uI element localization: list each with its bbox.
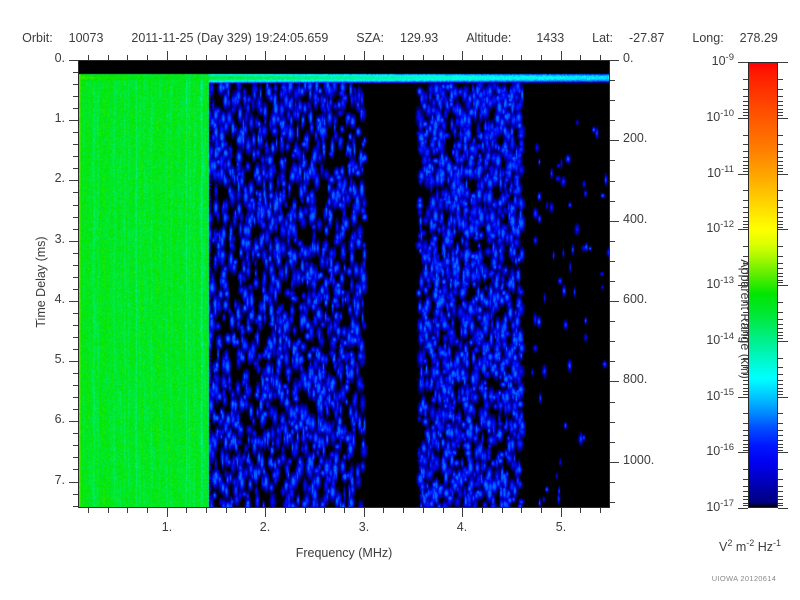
x-axis-minor-tick-top bbox=[108, 55, 109, 60]
colorbar-minor-tick-right bbox=[778, 112, 783, 113]
x-axis-minor-tick-top bbox=[226, 55, 227, 60]
colorbar-minor-tick-left bbox=[743, 391, 748, 392]
colorbar-minor-tick-left bbox=[743, 332, 748, 333]
x-axis-minor-tick-top bbox=[324, 55, 325, 60]
colorbar-minor-tick-left bbox=[743, 319, 748, 320]
y-axis-right-minor-tick bbox=[610, 261, 615, 262]
x-axis-minor-tick-top bbox=[206, 55, 207, 60]
colorbar-tick-label: 10-9 bbox=[674, 52, 734, 68]
colorbar-minor-tick-left bbox=[743, 338, 748, 339]
colorbar-major-tick-left bbox=[738, 397, 748, 398]
colorbar-minor-tick-right bbox=[778, 374, 783, 375]
y-axis-left-minor-tick bbox=[73, 349, 78, 350]
colorbar-tick-exponent: -16 bbox=[720, 442, 734, 453]
colorbar-minor-tick-left bbox=[743, 224, 748, 225]
y-axis-left-minor-tick bbox=[73, 108, 78, 109]
colorbar-major-tick-left bbox=[738, 174, 748, 175]
x-axis-minor-tick bbox=[403, 508, 404, 513]
y-axis-right-minor-tick bbox=[610, 442, 615, 443]
unit-volts-exponent: 2 bbox=[727, 538, 732, 548]
y-axis-left-major-tick bbox=[69, 60, 78, 61]
y-axis-left-minor-tick bbox=[73, 265, 78, 266]
colorbar-minor-tick-left bbox=[743, 246, 748, 247]
x-axis-minor-tick bbox=[206, 508, 207, 513]
colorbar-minor-tick-left bbox=[743, 221, 748, 222]
colorbar-tick-exponent: -9 bbox=[726, 52, 734, 63]
x-axis-minor-tick bbox=[186, 508, 187, 513]
colorbar-minor-tick-right bbox=[778, 165, 783, 166]
colorbar-minor-tick-right bbox=[778, 280, 783, 281]
colorbar-major-tick-right bbox=[778, 62, 788, 63]
colorbar-tick-mantissa: 10 bbox=[706, 500, 720, 514]
y-axis-left-minor-tick bbox=[73, 217, 78, 218]
y-axis-left-minor-tick bbox=[73, 337, 78, 338]
x-axis-minor-tick-top bbox=[443, 55, 444, 60]
y-axis-left-minor-tick bbox=[73, 132, 78, 133]
y-axis-right-minor-tick bbox=[610, 402, 615, 403]
y-axis-right-minor-tick bbox=[610, 361, 615, 362]
y-axis-left-minor-tick bbox=[73, 144, 78, 145]
colorbar-minor-tick-left bbox=[743, 324, 748, 325]
y-axis-right-minor-tick bbox=[610, 241, 615, 242]
header-metadata-line: Orbit: 10073 2011-11-25 (Day 329) 19:24:… bbox=[0, 31, 800, 45]
colorbar-minor-tick-left bbox=[743, 486, 748, 487]
colorbar-minor-tick-right bbox=[778, 144, 783, 145]
institution-credit: UIOWA 20120614 bbox=[690, 574, 798, 583]
colorbar-minor-tick-left bbox=[743, 447, 748, 448]
x-axis-minor-tick-top bbox=[403, 55, 404, 60]
orbit-value: 10073 bbox=[69, 31, 104, 45]
x-axis-minor-tick-top bbox=[580, 55, 581, 60]
colorbar-major-tick-right bbox=[778, 452, 788, 453]
y-axis-right-minor-tick bbox=[610, 482, 615, 483]
y-axis-left-minor-tick bbox=[73, 277, 78, 278]
colorbar-minor-tick-right bbox=[778, 430, 783, 431]
colorbar-major-tick-left bbox=[738, 508, 748, 509]
colorbar-major-tick-right bbox=[778, 229, 788, 230]
colorbar-minor-tick-left bbox=[743, 358, 748, 359]
colorbar-minor-tick-right bbox=[778, 200, 783, 201]
colorbar-major-tick-left bbox=[738, 285, 748, 286]
colorbar-minor-tick-left bbox=[743, 505, 748, 506]
radargram-plot-area bbox=[78, 60, 610, 508]
sza-value: 129.93 bbox=[400, 31, 438, 45]
y-axis-left-tick-label: 7. bbox=[21, 473, 65, 487]
colorbar-major-tick-left bbox=[738, 229, 748, 230]
colorbar-major-tick-right bbox=[778, 285, 788, 286]
y-axis-left-minor-tick bbox=[73, 313, 78, 314]
colorbar-minor-tick-right bbox=[778, 161, 783, 162]
x-axis-minor-tick bbox=[423, 508, 424, 513]
longitude-label: Long: bbox=[692, 31, 723, 45]
y-axis-right-major-tick bbox=[610, 221, 619, 222]
colorbar-minor-tick-left bbox=[743, 384, 748, 385]
colorbar-major-tick-right bbox=[778, 508, 788, 509]
colorbar-minor-tick-right bbox=[778, 394, 783, 395]
colorbar-minor-tick-right bbox=[778, 105, 783, 106]
x-axis-minor-tick bbox=[443, 508, 444, 513]
y-axis-right-minor-tick bbox=[610, 341, 615, 342]
y-axis-right-major-tick bbox=[610, 140, 619, 141]
colorbar-minor-tick-right bbox=[778, 221, 783, 222]
y-axis-left-minor-tick bbox=[73, 168, 78, 169]
x-axis-minor-tick-top bbox=[88, 55, 89, 60]
colorbar-minor-tick-right bbox=[778, 212, 783, 213]
x-axis-minor-tick bbox=[305, 508, 306, 513]
colorbar-minor-tick-right bbox=[778, 440, 783, 441]
colorbar-minor-tick-left bbox=[743, 273, 748, 274]
y-axis-left-minor-tick bbox=[73, 229, 78, 230]
colorbar-minor-tick-left bbox=[743, 171, 748, 172]
colorbar-minor-tick-left bbox=[743, 380, 748, 381]
y-axis-right-minor-tick bbox=[610, 100, 615, 101]
colorbar-major-tick-right bbox=[778, 118, 788, 119]
colorbar-minor-tick-right bbox=[778, 217, 783, 218]
colorbar-minor-tick-left bbox=[743, 496, 748, 497]
y-axis-left-minor-tick bbox=[73, 156, 78, 157]
y-axis-left-minor-tick bbox=[73, 373, 78, 374]
colorbar-minor-tick-left bbox=[743, 394, 748, 395]
colorbar-tick-mantissa: 10 bbox=[706, 221, 720, 235]
colorbar-minor-tick-left bbox=[743, 135, 748, 136]
colorbar-minor-tick-right bbox=[778, 332, 783, 333]
x-axis-minor-tick-top bbox=[344, 55, 345, 60]
colorbar-tick-label: 10-10 bbox=[674, 108, 734, 124]
colorbar-minor-tick-right bbox=[778, 367, 783, 368]
colorbar-major-tick-left bbox=[738, 452, 748, 453]
colorbar-minor-tick-left bbox=[743, 469, 748, 470]
colorbar-tick-mantissa: 10 bbox=[712, 54, 726, 68]
colorbar-tick-exponent: -13 bbox=[720, 275, 734, 286]
y-axis-left-minor-tick bbox=[73, 205, 78, 206]
colorbar-minor-tick-right bbox=[778, 302, 783, 303]
colorbar-minor-tick-left bbox=[743, 276, 748, 277]
colorbar-minor-tick-right bbox=[778, 444, 783, 445]
colorbar-minor-tick-left bbox=[743, 388, 748, 389]
y-axis-left-minor-tick bbox=[73, 409, 78, 410]
colorbar-tick-exponent: -15 bbox=[720, 387, 734, 398]
colorbar-tick-label: 10-12 bbox=[674, 219, 734, 235]
colorbar-minor-tick-left bbox=[743, 268, 748, 269]
x-axis-tick-label: 5. bbox=[541, 520, 581, 534]
x-axis-major-tick-top bbox=[167, 51, 168, 60]
colorbar-minor-tick-left bbox=[743, 168, 748, 169]
colorbar-tick-label: 10-15 bbox=[674, 387, 734, 403]
y-axis-right-minor-tick bbox=[610, 201, 615, 202]
x-axis-minor-tick-top bbox=[127, 55, 128, 60]
y-axis-right-minor-tick bbox=[610, 422, 615, 423]
colorbar-tick-mantissa: 10 bbox=[706, 110, 720, 124]
y-axis-right-tick-label: 600. bbox=[623, 292, 683, 306]
colorbar-minor-tick-right bbox=[778, 505, 783, 506]
y-axis-left-minor-tick bbox=[73, 289, 78, 290]
x-axis-minor-tick bbox=[580, 508, 581, 513]
y-axis-right-major-tick bbox=[610, 381, 619, 382]
colorbar-minor-tick-right bbox=[778, 109, 783, 110]
colorbar-minor-tick-right bbox=[778, 207, 783, 208]
x-axis-minor-tick bbox=[108, 508, 109, 513]
colorbar-minor-tick-left bbox=[743, 328, 748, 329]
colorbar-minor-tick-right bbox=[778, 384, 783, 385]
colorbar-minor-tick-right bbox=[778, 312, 783, 313]
colorbar-minor-tick-left bbox=[743, 256, 748, 257]
colorbar-minor-tick-right bbox=[778, 391, 783, 392]
orbit-label: Orbit: bbox=[22, 31, 53, 45]
colorbar-minor-tick-right bbox=[778, 499, 783, 500]
altitude-value: 1433 bbox=[536, 31, 564, 45]
colorbar-minor-tick-right bbox=[778, 168, 783, 169]
colorbar-major-tick-right bbox=[778, 341, 788, 342]
colorbar-minor-tick-right bbox=[778, 324, 783, 325]
colorbar-minor-tick-right bbox=[778, 319, 783, 320]
colorbar-minor-tick-left bbox=[743, 79, 748, 80]
colorbar-minor-tick-right bbox=[778, 486, 783, 487]
colorbar-minor-tick-right bbox=[778, 435, 783, 436]
colorbar-minor-tick-left bbox=[743, 367, 748, 368]
y-axis-left-minor-tick bbox=[73, 469, 78, 470]
y-axis-left-minor-tick bbox=[73, 385, 78, 386]
y-axis-right-minor-tick bbox=[610, 120, 615, 121]
y-axis-right-minor-tick bbox=[610, 160, 615, 161]
colorbar-minor-tick-left bbox=[743, 413, 748, 414]
unit-meters-exponent: -2 bbox=[746, 538, 754, 548]
colorbar-minor-tick-right bbox=[778, 450, 783, 451]
y-axis-left-minor-tick bbox=[73, 506, 78, 507]
colorbar-minor-tick-left bbox=[743, 335, 748, 336]
y-axis-left-major-tick bbox=[69, 301, 78, 302]
x-axis-major-tick-top bbox=[364, 51, 365, 60]
colorbar-minor-tick-right bbox=[778, 335, 783, 336]
colorbar-minor-tick-right bbox=[778, 101, 783, 102]
latitude-label: Lat: bbox=[592, 31, 613, 45]
colorbar-gradient bbox=[748, 62, 778, 508]
colorbar-minor-tick-left bbox=[743, 89, 748, 90]
colorbar-minor-tick-left bbox=[743, 212, 748, 213]
colorbar-minor-tick-left bbox=[743, 190, 748, 191]
x-axis-minor-tick-top bbox=[285, 55, 286, 60]
x-axis-major-tick-top bbox=[462, 51, 463, 60]
colorbar-minor-tick-left bbox=[743, 112, 748, 113]
y-axis-right-minor-tick bbox=[610, 321, 615, 322]
colorbar-minor-tick-left bbox=[743, 207, 748, 208]
x-axis-major-tick bbox=[561, 508, 562, 517]
colorbar-minor-tick-right bbox=[778, 358, 783, 359]
x-axis-minor-tick bbox=[521, 508, 522, 513]
colorbar-tick-label: 10-16 bbox=[674, 442, 734, 458]
x-axis-minor-tick bbox=[88, 508, 89, 513]
y-axis-left-minor-tick bbox=[73, 96, 78, 97]
x-axis-tick-label: 3. bbox=[344, 520, 384, 534]
colorbar-minor-tick-left bbox=[743, 144, 748, 145]
x-axis-minor-tick bbox=[600, 508, 601, 513]
colorbar-minor-tick-right bbox=[778, 263, 783, 264]
colorbar-tick-exponent: -11 bbox=[721, 164, 734, 175]
y-axis-left-tick-label: 5. bbox=[21, 352, 65, 366]
x-axis-minor-tick bbox=[383, 508, 384, 513]
colorbar-minor-tick-right bbox=[778, 479, 783, 480]
colorbar-minor-tick-left bbox=[743, 280, 748, 281]
x-axis-minor-tick-top bbox=[600, 55, 601, 60]
colorbar-tick-exponent: -10 bbox=[720, 108, 734, 119]
colorbar-minor-tick-left bbox=[743, 423, 748, 424]
x-axis-minor-tick-top bbox=[482, 55, 483, 60]
x-axis-minor-tick bbox=[541, 508, 542, 513]
x-axis-minor-tick bbox=[344, 508, 345, 513]
colorbar-minor-tick-right bbox=[778, 246, 783, 247]
x-axis-major-tick bbox=[364, 508, 365, 517]
colorbar-minor-tick-right bbox=[778, 282, 783, 283]
colorbar-minor-tick-left bbox=[743, 440, 748, 441]
colorbar-minor-tick-right bbox=[778, 89, 783, 90]
y-axis-left-minor-tick bbox=[73, 192, 78, 193]
x-axis-tick-label: 2. bbox=[245, 520, 285, 534]
y-axis-left-minor-tick bbox=[73, 253, 78, 254]
colorbar-tick-label: 10-14 bbox=[674, 331, 734, 347]
colorbar-minor-tick-left bbox=[743, 302, 748, 303]
y-axis-right-minor-tick bbox=[610, 80, 615, 81]
x-axis-minor-tick-top bbox=[541, 55, 542, 60]
y-axis-right-tick-label: 800. bbox=[623, 372, 683, 386]
y-axis-left-title: Time Delay (ms) bbox=[34, 217, 48, 347]
x-axis-minor-tick bbox=[245, 508, 246, 513]
x-axis-major-tick bbox=[167, 508, 168, 517]
colorbar-minor-tick-right bbox=[778, 338, 783, 339]
x-axis-minor-tick bbox=[324, 508, 325, 513]
y-axis-right-minor-tick bbox=[610, 181, 615, 182]
colorbar-minor-tick-left bbox=[743, 115, 748, 116]
y-axis-left-major-tick bbox=[69, 361, 78, 362]
colorbar-minor-tick-left bbox=[743, 491, 748, 492]
colorbar-minor-tick-left bbox=[743, 430, 748, 431]
colorbar-minor-tick-left bbox=[743, 374, 748, 375]
y-axis-left-minor-tick bbox=[73, 84, 78, 85]
unit-meters: m-2 bbox=[736, 540, 754, 554]
colorbar-minor-tick-left bbox=[743, 165, 748, 166]
y-axis-right-tick-label: 200. bbox=[623, 131, 683, 145]
y-axis-left-major-tick bbox=[69, 482, 78, 483]
colorbar-minor-tick-right bbox=[778, 503, 783, 504]
colorbar-minor-tick-left bbox=[743, 151, 748, 152]
colorbar-minor-tick-left bbox=[743, 105, 748, 106]
y-axis-left-tick-label: 2. bbox=[21, 171, 65, 185]
colorbar-tick-exponent: -12 bbox=[720, 219, 734, 230]
colorbar-minor-tick-right bbox=[778, 79, 783, 80]
colorbar-minor-tick-right bbox=[778, 496, 783, 497]
colorbar-tick-mantissa: 10 bbox=[706, 277, 720, 291]
x-axis-minor-tick bbox=[226, 508, 227, 513]
colorbar-minor-tick-right bbox=[778, 224, 783, 225]
colorbar-minor-tick-right bbox=[778, 135, 783, 136]
colorbar-minor-tick-left bbox=[743, 157, 748, 158]
y-axis-left-major-tick bbox=[69, 120, 78, 121]
x-axis-major-tick bbox=[265, 508, 266, 517]
sza-label: SZA: bbox=[356, 31, 384, 45]
unit-hertz: Hz-1 bbox=[758, 540, 781, 554]
colorbar-minor-tick-right bbox=[778, 268, 783, 269]
observation-datetime: 2011-11-25 (Day 329) 19:24:05.659 bbox=[131, 31, 328, 45]
colorbar-tick-exponent: -14 bbox=[720, 331, 734, 342]
colorbar-tick-mantissa: 10 bbox=[706, 389, 720, 403]
x-axis-minor-tick bbox=[285, 508, 286, 513]
unit-hertz-exponent: -1 bbox=[773, 538, 781, 548]
colorbar-minor-tick-right bbox=[778, 115, 783, 116]
colorbar-minor-tick-right bbox=[778, 469, 783, 470]
colorbar-minor-tick-left bbox=[743, 217, 748, 218]
colorbar-minor-tick-left bbox=[743, 96, 748, 97]
x-axis-major-tick-top bbox=[265, 51, 266, 60]
y-axis-left-minor-tick bbox=[73, 325, 78, 326]
y-axis-left-tick-label: 0. bbox=[21, 51, 65, 65]
y-axis-left-tick-label: 6. bbox=[21, 412, 65, 426]
y-axis-right-major-tick bbox=[610, 301, 619, 302]
colorbar-minor-tick-right bbox=[778, 227, 783, 228]
colorbar-minor-tick-right bbox=[778, 491, 783, 492]
colorbar-minor-tick-left bbox=[743, 109, 748, 110]
y-axis-left-major-tick bbox=[69, 421, 78, 422]
latitude-value: -27.87 bbox=[629, 31, 664, 45]
x-axis-minor-tick-top bbox=[186, 55, 187, 60]
colorbar-minor-tick-left bbox=[743, 312, 748, 313]
colorbar-major-tick-right bbox=[778, 397, 788, 398]
colorbar-minor-tick-right bbox=[778, 190, 783, 191]
colorbar-minor-tick-left bbox=[743, 101, 748, 102]
unit-volts: V2 bbox=[719, 540, 732, 554]
x-axis-minor-tick-top bbox=[423, 55, 424, 60]
colorbar-minor-tick-right bbox=[778, 157, 783, 158]
y-axis-right-minor-tick bbox=[610, 502, 615, 503]
y-axis-left-major-tick bbox=[69, 241, 78, 242]
x-axis-major-tick bbox=[462, 508, 463, 517]
colorbar-minor-tick-left bbox=[743, 479, 748, 480]
colorbar-major-tick-left bbox=[738, 118, 748, 119]
altitude-label: Altitude: bbox=[466, 31, 511, 45]
colorbar-minor-tick-left bbox=[743, 227, 748, 228]
y-axis-left-minor-tick bbox=[73, 494, 78, 495]
colorbar-minor-tick-left bbox=[743, 503, 748, 504]
colorbar-minor-tick-right bbox=[778, 151, 783, 152]
x-axis-title: Frequency (MHz) bbox=[274, 546, 414, 560]
colorbar-minor-tick-right bbox=[778, 273, 783, 274]
colorbar-minor-tick-right bbox=[778, 423, 783, 424]
x-axis-minor-tick-top bbox=[245, 55, 246, 60]
y-axis-left-minor-tick bbox=[73, 433, 78, 434]
x-axis-minor-tick bbox=[147, 508, 148, 513]
colorbar-minor-tick-right bbox=[778, 388, 783, 389]
y-axis-right-major-tick bbox=[610, 60, 619, 61]
x-axis-minor-tick-top bbox=[305, 55, 306, 60]
x-axis-minor-tick bbox=[502, 508, 503, 513]
colorbar-minor-tick-right bbox=[778, 328, 783, 329]
colorbar-tick-label: 10-11 bbox=[674, 164, 734, 180]
x-axis-minor-tick-top bbox=[383, 55, 384, 60]
colorbar-minor-tick-right bbox=[778, 256, 783, 257]
colorbar-minor-tick-left bbox=[743, 450, 748, 451]
colorbar-minor-tick-left bbox=[743, 499, 748, 500]
colorbar-tick-label: 10-17 bbox=[674, 498, 734, 514]
y-axis-left-minor-tick bbox=[73, 445, 78, 446]
colorbar-minor-tick-right bbox=[778, 96, 783, 97]
x-axis-minor-tick-top bbox=[521, 55, 522, 60]
x-axis-minor-tick bbox=[127, 508, 128, 513]
colorbar-minor-tick-left bbox=[743, 200, 748, 201]
colorbar-tick-mantissa: 10 bbox=[707, 166, 721, 180]
colorbar-minor-tick-left bbox=[743, 263, 748, 264]
y-axis-left-minor-tick bbox=[73, 72, 78, 73]
colorbar-minor-tick-left bbox=[743, 161, 748, 162]
y-axis-left-tick-label: 1. bbox=[21, 111, 65, 125]
x-axis-minor-tick bbox=[482, 508, 483, 513]
colorbar-minor-tick-right bbox=[778, 171, 783, 172]
